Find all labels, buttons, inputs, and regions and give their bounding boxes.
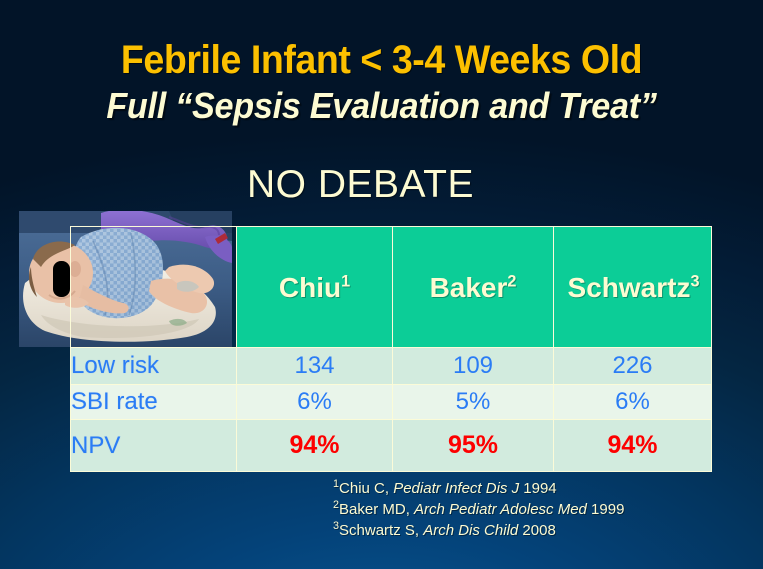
no-debate-callout: NO DEBATE (247, 163, 474, 207)
table-header-row: Chiu1 Baker2 Schwartz3 (71, 227, 712, 348)
footnote-3-journal: Arch Dis Child (423, 522, 518, 539)
footnote-2-year: 1999 (587, 501, 625, 518)
footnote-2-journal: Arch Pediatr Adolesc Med (414, 501, 587, 518)
cell-npv-baker: 95% (393, 420, 554, 472)
privacy-bar (53, 261, 70, 297)
column-header-chiu: Chiu1 (237, 227, 393, 348)
cell-sbi-rate-chiu: 6% (237, 385, 393, 420)
footnote-2: 2Baker MD, Arch Pediatr Adolesc Med 1999 (333, 499, 624, 520)
column-header-schwartz-footnote-marker: 3 (690, 272, 699, 290)
row-label-low-risk: Low risk (71, 348, 237, 385)
footnote-1-year: 1994 (519, 480, 557, 497)
table-corner-cell (71, 227, 237, 348)
column-header-schwartz: Schwartz3 (554, 227, 712, 348)
column-header-schwartz-label: Schwartz (568, 272, 691, 303)
results-table: Chiu1 Baker2 Schwartz3 Low risk 134 109 … (70, 226, 712, 472)
cell-npv-chiu: 94% (237, 420, 393, 472)
footnote-2-author: Baker MD, (339, 501, 414, 518)
column-header-chiu-label: Chiu (279, 272, 341, 303)
column-header-baker-footnote-marker: 2 (507, 272, 516, 290)
row-label-sbi-rate: SBI rate (71, 385, 237, 420)
cell-sbi-rate-baker: 5% (393, 385, 554, 420)
results-table-container: Chiu1 Baker2 Schwartz3 Low risk 134 109 … (70, 226, 711, 471)
cell-npv-schwartz: 94% (554, 420, 712, 472)
column-header-chiu-footnote-marker: 1 (341, 272, 350, 290)
slide-canvas: Febrile Infant < 3-4 Weeks Old Full “Sep… (0, 0, 763, 569)
title-line-primary: Febrile Infant < 3-4 Weeks Old (23, 36, 740, 84)
column-header-baker: Baker2 (393, 227, 554, 348)
footnote-1: 1Chiu C, Pediatr Infect Dis J 1994 (333, 478, 624, 499)
footnote-1-author: Chiu C, (339, 480, 393, 497)
slide-title-block: Febrile Infant < 3-4 Weeks Old Full “Sep… (0, 36, 763, 128)
cell-low-risk-baker: 109 (393, 348, 554, 385)
footnote-3-author: Schwartz S, (339, 522, 423, 539)
table-row: NPV 94% 95% 94% (71, 420, 712, 472)
table-row: SBI rate 6% 5% 6% (71, 385, 712, 420)
footnote-3: 3Schwartz S, Arch Dis Child 2008 (333, 520, 624, 541)
footnote-3-year: 2008 (518, 522, 556, 539)
table-row: Low risk 134 109 226 (71, 348, 712, 385)
cell-sbi-rate-schwartz: 6% (554, 385, 712, 420)
footnote-1-journal: Pediatr Infect Dis J (393, 480, 519, 497)
cell-low-risk-schwartz: 226 (554, 348, 712, 385)
cell-low-risk-chiu: 134 (237, 348, 393, 385)
column-header-baker-label: Baker (430, 272, 508, 303)
title-line-secondary: Full “Sepsis Evaluation and Treat” (19, 84, 744, 128)
row-label-npv: NPV (71, 420, 237, 472)
reference-footnotes: 1Chiu C, Pediatr Infect Dis J 1994 2Bake… (333, 478, 624, 541)
